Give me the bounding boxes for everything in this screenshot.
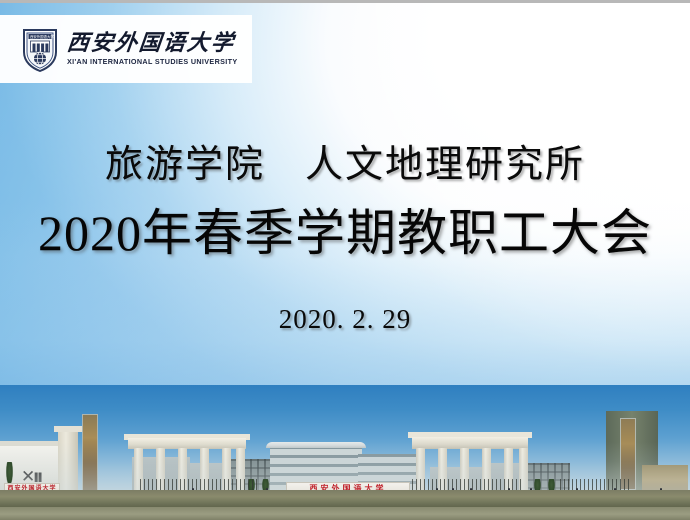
- title-line-department: 旅游学院 人文地理研究所: [0, 143, 690, 188]
- title-line-main: 2020年春季学期教职工大会: [0, 202, 690, 265]
- campus-gate-photo: ✕ıı: [0, 385, 690, 520]
- svg-text:西安外国语大学: 西安外国语大学: [30, 34, 54, 39]
- title-date: 2020. 2. 29: [0, 304, 690, 335]
- slide-title-block: 旅游学院 人文地理研究所 2020年春季学期教职工大会 2020. 2. 29: [0, 143, 690, 335]
- logo-name-chinese: 西安外国语大学: [66, 32, 239, 54]
- logo-wordmark: 西安外国语大学 XI'AN INTERNATIONAL STUDIES UNIV…: [67, 32, 237, 65]
- photo-road: [0, 507, 690, 520]
- university-logo-band: 西安外国语大学 西安外国语大学 XI'AN INTERNATIONAL STUD…: [0, 15, 252, 83]
- photo-gate-pylon-cap: [54, 426, 82, 432]
- university-shield-crest-icon: 西安外国语大学: [22, 27, 58, 72]
- presentation-slide: 西安外国语大学 西安外国语大学 XI'AN INTERNATIONAL STUD…: [0, 0, 690, 520]
- logo-name-english: XI'AN INTERNATIONAL STUDIES UNIVERSITY: [67, 58, 237, 65]
